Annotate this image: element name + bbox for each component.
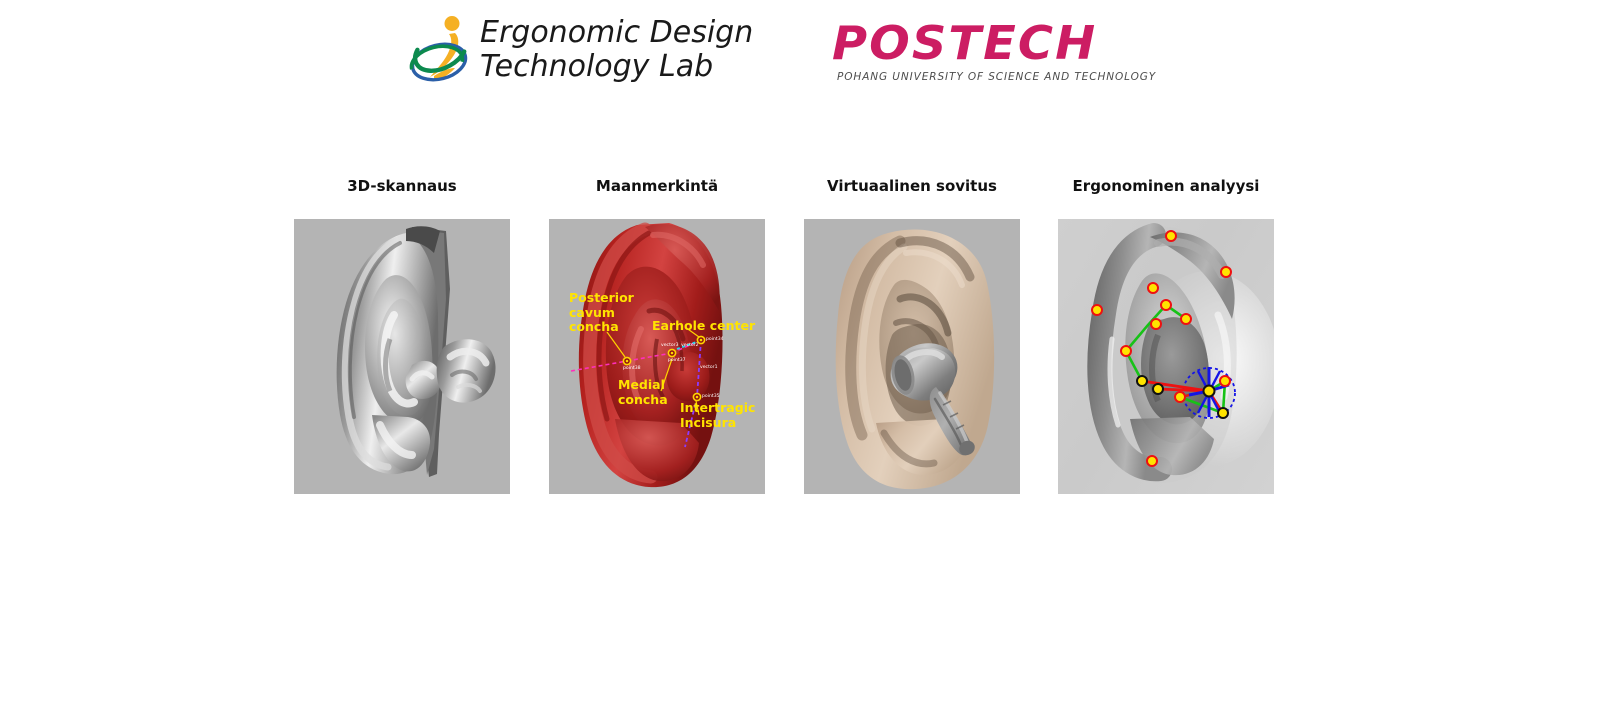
panel-ergonomic-analysis: Ergonominen analyysi	[1058, 219, 1274, 494]
callout-posterior-cavum-concha: Posterior cavum concha	[569, 291, 634, 335]
postech-wordmark: POSTECH	[832, 20, 1140, 66]
panel-title-landmarking: Maanmerkintä	[509, 177, 805, 195]
edt-lab-line2: Technology Lab	[480, 50, 738, 84]
callout-medial-concha: Medial concha	[618, 378, 668, 407]
panel-title-3d-scan: 3D-skannaus	[254, 177, 550, 195]
panel-image-ergonomic-analysis	[1058, 219, 1274, 494]
vector-label-vector1: vector1	[700, 365, 718, 371]
panel-3d-scan: 3D-skannaus	[294, 219, 510, 494]
panel-image-virtual-fit	[804, 219, 1020, 494]
panel-title-ergonomic-analysis: Ergonominen analyysi	[1018, 177, 1314, 195]
edt-lab-logo: Ergonomic Design Technology Lab	[408, 12, 738, 92]
vector-label-vector2: vector2	[681, 343, 699, 349]
header-logo-row: Ergonomic Design Technology Lab POSTECH …	[0, 0, 1600, 110]
point-label-point35: point35	[702, 394, 720, 400]
point-label-point37: point37	[668, 358, 686, 364]
panel-image-landmarking: Posterior cavum concha Earhole center Me…	[549, 219, 765, 494]
callout-earhole-center: Earhole center	[652, 319, 755, 334]
edt-lab-figure-swoosh-icon	[408, 14, 474, 90]
point-label-point34: point34	[706, 337, 724, 343]
postech-logo: POSTECH POHANG UNIVERSITY OF SCIENCE AND…	[832, 20, 1128, 86]
edt-lab-line1: Ergonomic Design	[480, 16, 738, 50]
point-label-point38: point38	[623, 366, 641, 372]
panel-virtual-fit: Virtuaalinen sovitus	[804, 219, 1020, 494]
callout-intertragic-incisura: Intertragic Incisura	[680, 401, 755, 430]
vector-label-vector3: vector3	[661, 343, 679, 349]
panel-title-virtual-fit: Virtuaalinen sovitus	[764, 177, 1060, 195]
postech-subtitle: POHANG UNIVERSITY OF SCIENCE AND TECHNOL…	[837, 70, 1128, 84]
panel-landmarking: Maanmerkintä	[549, 219, 765, 494]
panel-image-3d-scan	[294, 219, 510, 494]
edt-lab-wordmark: Ergonomic Design Technology Lab	[480, 16, 738, 84]
